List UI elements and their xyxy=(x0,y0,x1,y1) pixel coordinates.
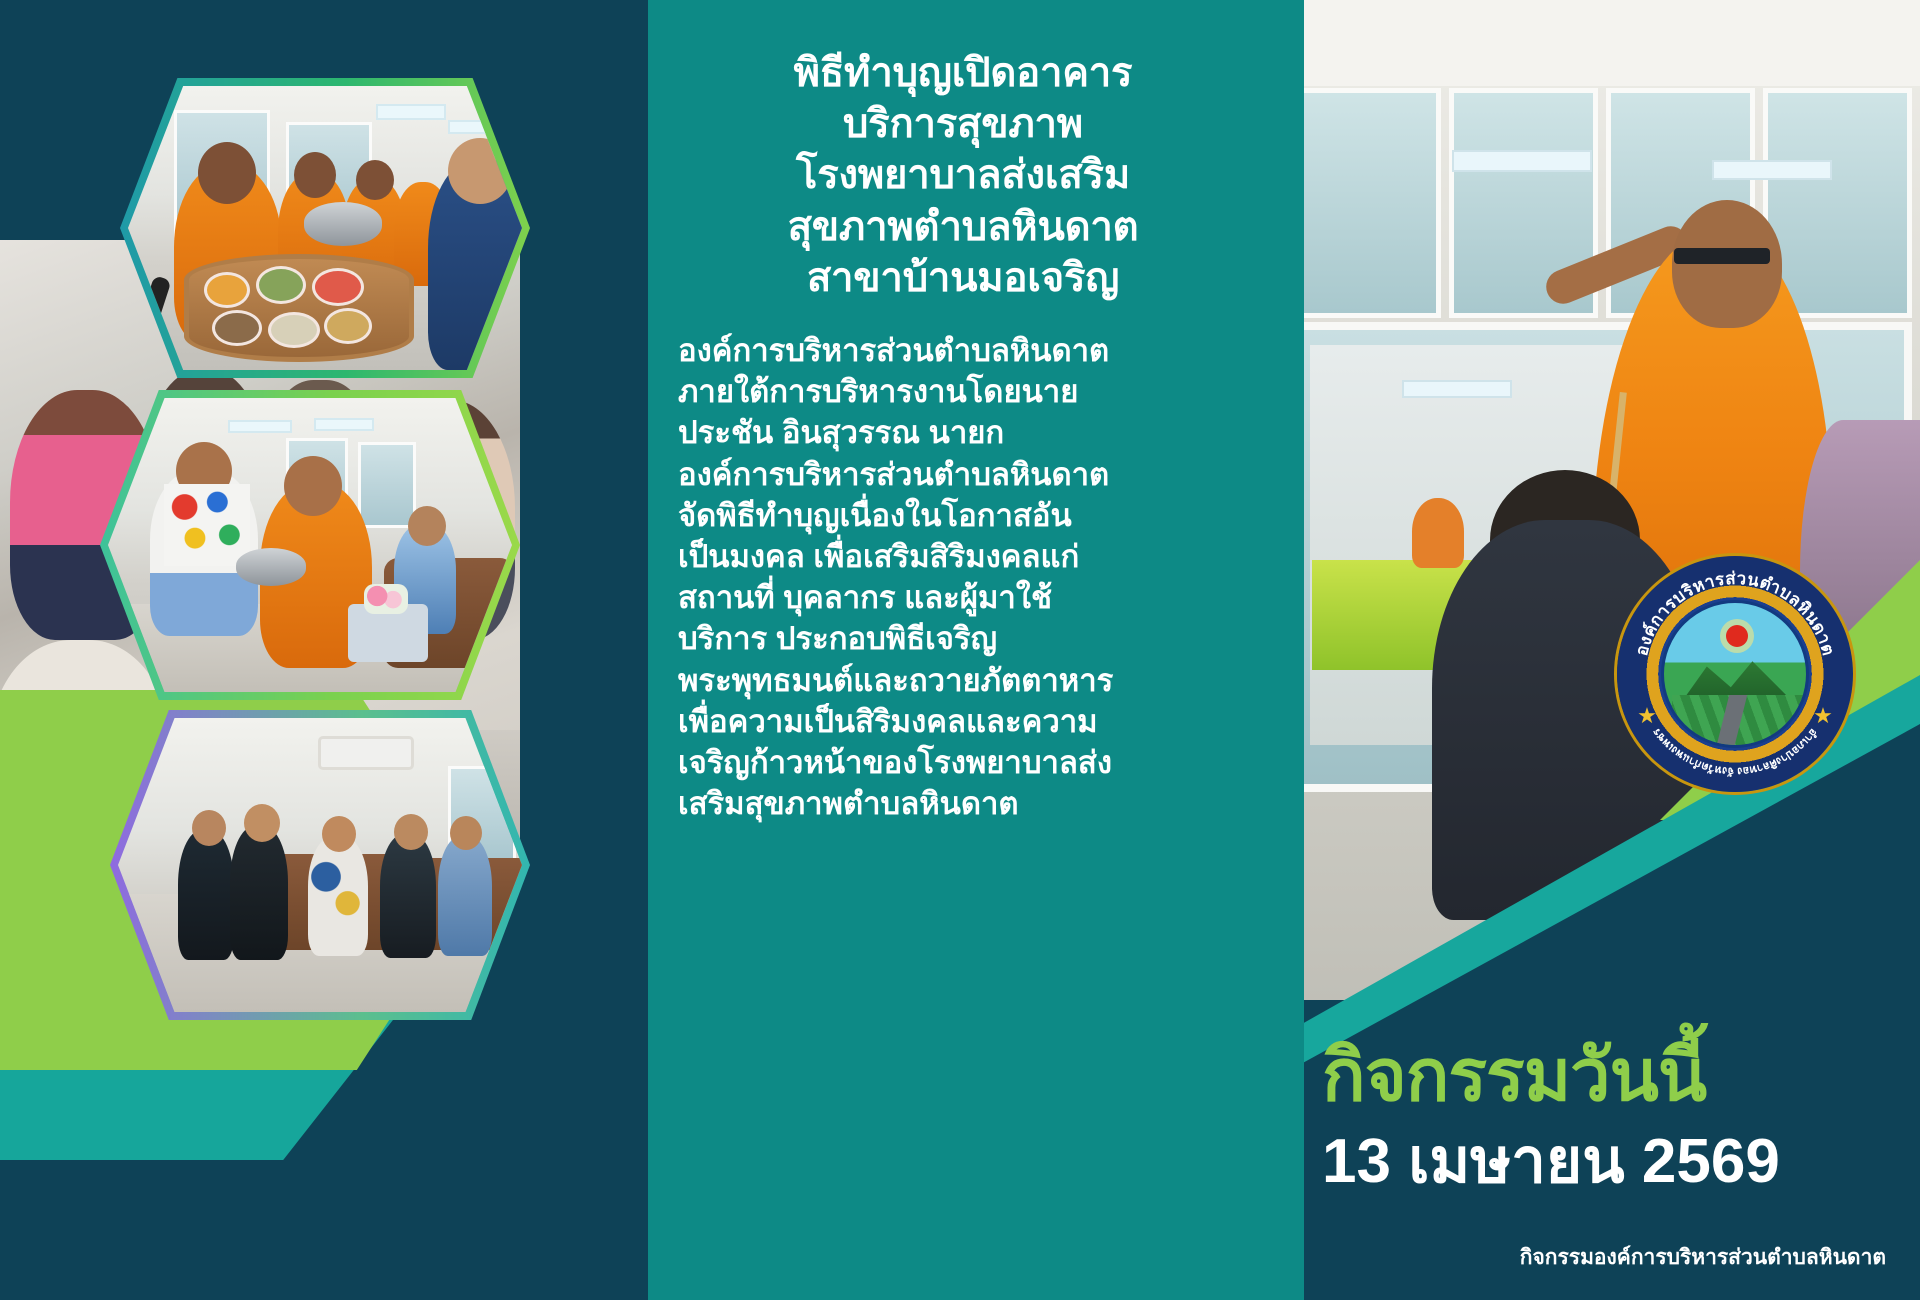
ceiling-light xyxy=(228,420,292,433)
body-line: เพื่อความเป็นสิริมงคลและความ xyxy=(678,701,1248,742)
alms-bowl xyxy=(236,548,306,586)
food-bowl xyxy=(312,268,364,306)
hex-photo-card-2 xyxy=(100,390,520,700)
seated-person xyxy=(230,826,288,960)
food-bowl xyxy=(212,310,262,346)
poster-title: พิธีทำบุญเปิดอาคาร บริการสุขภาพ โรงพยาบา… xyxy=(788,48,1139,304)
body-line: ภายใต้การบริหารงานโดยนาย xyxy=(678,371,1248,412)
svg-text:องค์การบริหารส่วนตำบลหินดาต: องค์การบริหารส่วนตำบลหินดาต xyxy=(1632,569,1838,658)
monk-head xyxy=(356,160,394,200)
ceiling-light xyxy=(448,120,510,134)
guest-head xyxy=(408,506,446,546)
body-line: เจริญก้าวหน้าของโรงพยาบาลส่ง xyxy=(678,742,1248,783)
ceiling-light xyxy=(1402,380,1512,398)
activity-date: 13 เมษายน 2569 xyxy=(1322,1126,1886,1197)
headline-block: กิจกรรมวันนี้ 13 เมษายน 2569 กิจกรรมองค์… xyxy=(1282,1040,1920,1300)
body-line: เป็นมงคล เพื่อเสริมสิริมงคลแก่ xyxy=(678,536,1248,577)
poster-body-text: องค์การบริหารส่วนตำบลหินดาต ภายใต้การบริ… xyxy=(678,330,1248,825)
body-line: พระพุทธมนต์และถวายภัตตาหาร xyxy=(678,660,1248,701)
flower-vase xyxy=(364,584,408,614)
text-panel: พิธีทำบุญเปิดอาคาร บริการสุขภาพ โรงพยาบา… xyxy=(648,0,1282,1300)
glasses-icon xyxy=(1674,248,1770,264)
municipality-seal-logo: ★ ★ องค์การบริหารส่วนตำบลหินดาต อำเภอปาง… xyxy=(1617,556,1853,792)
food-bowl xyxy=(204,272,250,308)
seated-person xyxy=(380,834,436,958)
seated-person xyxy=(178,830,234,960)
air-conditioner xyxy=(318,736,414,770)
seated-guests-photo xyxy=(118,718,522,1012)
person-head xyxy=(322,816,356,852)
title-line: โรงพยาบาลส่งเสริม xyxy=(788,150,1139,201)
food-bowl xyxy=(324,308,372,344)
photo-content xyxy=(128,86,522,370)
title-line: บริการสุขภาพ xyxy=(788,99,1139,150)
svg-text:อำเภอปางศิลาทอง จังหวัดกำแพงเพ: อำเภอปางศิลาทอง จังหวัดกำแพงเพชร xyxy=(1651,726,1821,778)
body-line: เสริมสุขภาพตำบลหินดาต xyxy=(678,783,1248,824)
person-head xyxy=(394,814,428,850)
person-head xyxy=(450,816,482,850)
paint-splatter-shirt xyxy=(164,484,250,566)
monk-head xyxy=(284,456,342,516)
right-panel: ★ ★ องค์การบริหารส่วนตำบลหินดาต อำเภอปาง… xyxy=(1282,0,1920,1300)
food-bowl xyxy=(268,312,320,348)
body-line: บริการ ประกอบพิธีเจริญ xyxy=(678,618,1248,659)
body-line: จัดพิธีทำบุญเนื่องในโอกาสอัน xyxy=(678,495,1248,536)
seated-person-patterned-shirt xyxy=(308,836,368,956)
hex-photo-card-1 xyxy=(120,78,530,378)
alms-bowl xyxy=(304,202,382,246)
title-line: พิธีทำบุญเปิดอาคาร xyxy=(788,48,1139,99)
ceiling-light xyxy=(376,104,446,120)
seal-top-text: องค์การบริหารส่วนตำบลหินดาต xyxy=(1632,569,1838,658)
window xyxy=(358,442,416,528)
body-line: ประชัน อินสุวรรณ นายก xyxy=(678,412,1248,453)
activity-headline: กิจกรรมวันนี้ xyxy=(1322,1040,1886,1112)
person-head xyxy=(192,810,226,846)
ceiling-light xyxy=(1712,160,1832,180)
body-line: สถานที่ บุคลากร และผู้มาใช้ xyxy=(678,577,1248,618)
monk-head xyxy=(198,142,256,204)
monk-head xyxy=(1672,200,1782,328)
window xyxy=(1292,88,1441,318)
wall xyxy=(1282,0,1920,86)
food-bowl xyxy=(256,266,306,304)
seal-ring-text: องค์การบริหารส่วนตำบลหินดาต อำเภอปางศิลา… xyxy=(1617,556,1853,792)
person-head xyxy=(244,804,280,842)
seal-bottom-text: อำเภอปางศิลาทอง จังหวัดกำแพงเพชร xyxy=(1651,726,1821,778)
alms-giving-photo xyxy=(108,398,512,692)
title-line: สุขภาพตำบลหินดาต xyxy=(788,202,1139,253)
seated-person xyxy=(438,836,492,956)
seated-monk-inside xyxy=(1412,498,1464,568)
hex-photo-card-3 xyxy=(110,710,530,1020)
monk-receiving-offering-photo xyxy=(128,86,522,370)
photo-content xyxy=(118,718,522,1012)
ceiling-light xyxy=(1452,150,1592,172)
body-line: องค์การบริหารส่วนตำบลหินดาต xyxy=(678,454,1248,495)
title-line: สาขาบ้านมอเจริญ xyxy=(788,253,1139,304)
left-collage-panel xyxy=(0,0,648,1300)
body-line: องค์การบริหารส่วนตำบลหินดาต xyxy=(678,330,1248,371)
ceiling-light xyxy=(314,418,374,431)
photo-content xyxy=(108,398,512,692)
monk-head xyxy=(294,152,336,198)
poster-canvas: พิธีทำบุญเปิดอาคาร บริการสุขภาพ โรงพยาบา… xyxy=(0,0,1920,1300)
footer-note: กิจกรรมองค์การบริหารส่วนตำบลหินดาต xyxy=(1322,1241,1886,1274)
